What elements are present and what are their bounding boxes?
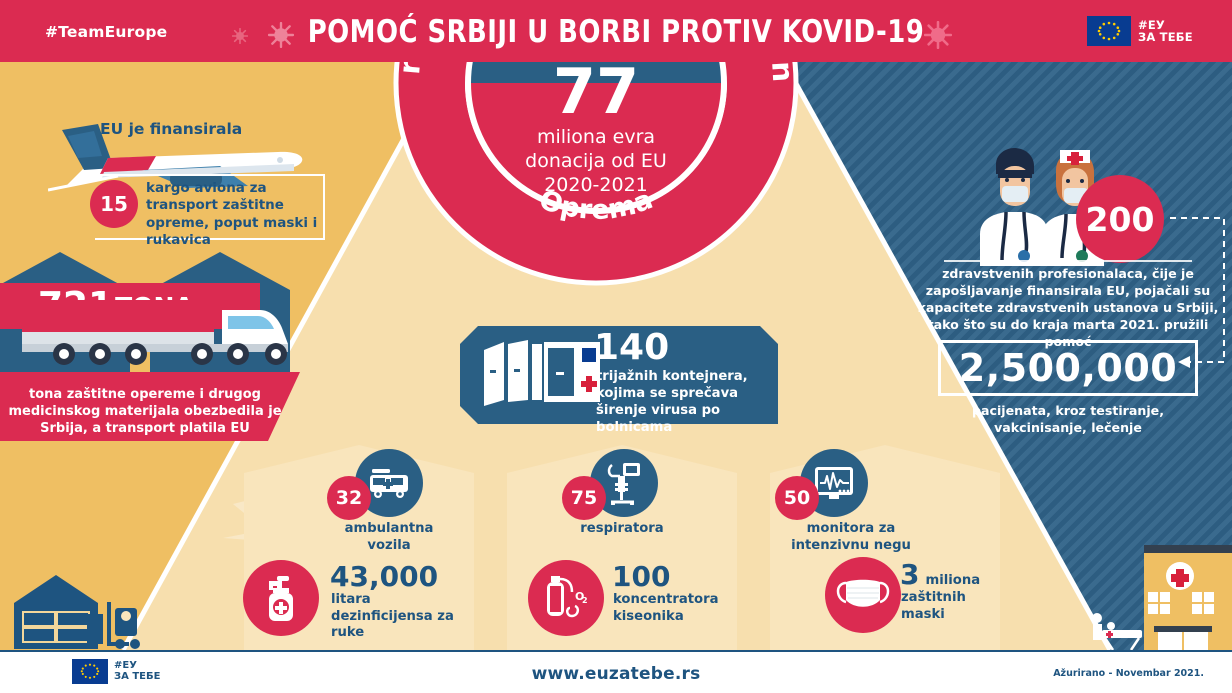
- badge-monitors: 50: [775, 476, 819, 520]
- sanitizer-number: 43,000: [330, 563, 438, 591]
- face-mask-icon: [836, 575, 890, 615]
- eu-stars: [1087, 16, 1131, 46]
- badge-ventilators: 75: [562, 476, 606, 520]
- ventilator-icon: [606, 461, 642, 505]
- oxygen-tank-icon: O 2: [542, 574, 590, 622]
- eu-logo-header: #ЕУ ЗА ТЕБЕ: [1087, 16, 1193, 46]
- eu-logo-line2: ЗА ТЕБЕ: [1138, 31, 1193, 43]
- badge-cargo-planes: 15: [90, 180, 138, 228]
- updated-date: Ažurirano - Novembar 2021.: [1053, 668, 1204, 679]
- face-mask-icon-circle: [825, 557, 901, 633]
- staff-divider: [944, 260, 1192, 262]
- masks-label: zaštitnih maski: [901, 590, 1011, 623]
- svg-text:2: 2: [582, 596, 588, 605]
- tons-text: tona zaštitne opereme i drugog medicinsk…: [0, 386, 290, 437]
- oxygen-label: koncentratora kiseonika: [613, 592, 753, 625]
- eu-logo-text: #ЕУ ЗА ТЕБЕ: [1138, 19, 1193, 44]
- footer-bar: #ЕУ ЗА ТЕБЕ www.euzatebe.rs Ažurirano - …: [0, 650, 1232, 693]
- masks-number: 3: [900, 561, 919, 589]
- containers-number: 140: [594, 330, 669, 366]
- staff-text: zdravstvenih profesionalaca, čije je zap…: [912, 265, 1224, 350]
- infographic-canvas: Transport Zaposleni Oprema 77 miliona ev…: [0, 0, 1232, 693]
- oxygen-tank-icon-circle: O 2: [528, 560, 604, 636]
- donut-center-line3: 2020-2021: [544, 174, 648, 196]
- forklift-icon: [85, 592, 145, 650]
- oxygen-number: 100: [612, 563, 670, 591]
- label-monitors: monitora za intenzivnu negu: [786, 521, 916, 555]
- label-ventilators: respiratora: [562, 521, 682, 538]
- header-bar: #TeamEurope POMOĆ SRBIJI U BORBI PROTIV …: [0, 0, 1232, 62]
- ambulance-icon: [367, 467, 411, 499]
- donut-center-line2: donacija od EU: [525, 150, 667, 172]
- badge-health-professionals: 200: [1076, 175, 1164, 263]
- patients-number: 2,500,000: [959, 346, 1177, 390]
- vital-monitor-icon: [813, 465, 855, 501]
- cargo-planes-text: kargo aviona za transport zaštitne oprem…: [146, 180, 326, 249]
- page-title: POMOĆ SRBIJI U BORBI PROTIV KOVID-19: [43, 14, 1189, 50]
- hand-sanitizer-icon: [260, 573, 302, 623]
- donut-center-line1: miliona evra: [537, 126, 655, 148]
- sanitizer-label: litara dezinficijensa za ruke: [331, 592, 461, 642]
- donut-center-number: 77: [553, 55, 639, 128]
- truck-icon: [22, 300, 302, 372]
- masks-number-row: 3 miliona: [900, 561, 980, 590]
- containers-text: trijažnih kontejnera, kojima se sprečava…: [596, 368, 782, 437]
- stretcher-icon: [1089, 608, 1145, 650]
- website-link[interactable]: www.euzatebe.rs: [0, 664, 1232, 684]
- container-icon: [482, 338, 602, 410]
- hospital-icon: [1140, 530, 1232, 650]
- patients-text: pacijenata, kroz testiranje, vakcinisanj…: [930, 402, 1206, 436]
- eu-flag-icon: [1087, 16, 1131, 46]
- badge-ambulances: 32: [327, 476, 371, 520]
- patients-box: 2,500,000: [938, 340, 1198, 396]
- hand-sanitizer-icon-circle: [243, 560, 319, 636]
- masks-unit: miliona: [925, 573, 980, 590]
- label-ambulances: ambulantna vozila: [329, 521, 449, 555]
